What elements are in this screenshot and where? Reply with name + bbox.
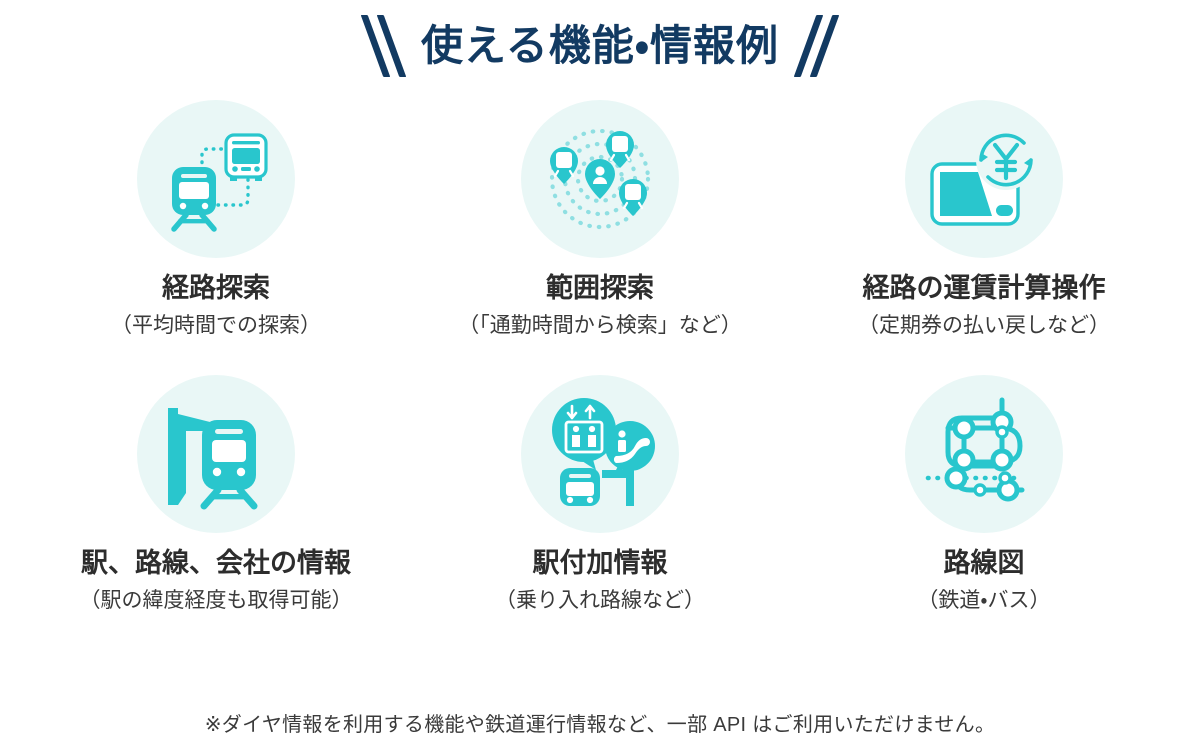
feature-title: 経路探索 xyxy=(162,272,270,306)
route-map-network-icon xyxy=(905,375,1063,533)
feature-subtitle: （「通勤時間から検索」など） xyxy=(458,310,742,342)
decorative-slash-right xyxy=(805,15,828,77)
feature-title: 駅付加情報 xyxy=(533,547,668,581)
fare-card-yen-icon xyxy=(905,100,1063,258)
feature-title: 範囲探索 xyxy=(546,272,654,306)
page-header: 使える機能・情報例 xyxy=(0,0,1200,86)
feature-card-station-facility: 駅付加情報 （乗り入れ路線など） xyxy=(408,375,792,616)
feature-subtitle: （乗り入れ路線など） xyxy=(495,585,705,617)
station-facility-bubbles-icon xyxy=(521,375,679,533)
feature-card-route-search: 経路探索 （平均時間での探索） xyxy=(24,100,408,341)
feature-card-route-map: 路線図 （鉄道・バス） xyxy=(792,375,1176,616)
feature-card-area-search: 範囲探索 （「通勤時間から検索」など） xyxy=(408,100,792,341)
feature-card-fare-calculation: 経路の運賃計算操作 （定期券の払い戻しなど） xyxy=(792,100,1176,341)
feature-subtitle: （平均時間での探索） xyxy=(111,310,321,342)
footer-note: ※ダイヤ情報を利用する機能や鉄道運行情報など、一部 API はご利用いただけませ… xyxy=(0,708,1200,737)
page-title: 使える機能・情報例 xyxy=(421,25,779,67)
decorative-slash-left xyxy=(372,15,395,77)
feature-title: 経路の運賃計算操作 xyxy=(863,272,1106,306)
area-search-pins-icon xyxy=(521,100,679,258)
feature-subtitle: （駅の緯度経度も取得可能） xyxy=(80,585,353,617)
feature-title: 路線図 xyxy=(944,547,1025,581)
feature-subtitle: （鉄道・バス） xyxy=(917,585,1050,617)
feature-grid: 経路探索 （平均時間での探索） xyxy=(0,86,1200,617)
train-bus-route-icon xyxy=(137,100,295,258)
feature-card-station-info: 駅、路線、会社の情報 （駅の緯度経度も取得可能） xyxy=(24,375,408,616)
station-platform-train-icon xyxy=(137,375,295,533)
feature-title: 駅、路線、会社の情報 xyxy=(81,547,351,581)
feature-subtitle: （定期券の払い戻しなど） xyxy=(858,310,1110,342)
